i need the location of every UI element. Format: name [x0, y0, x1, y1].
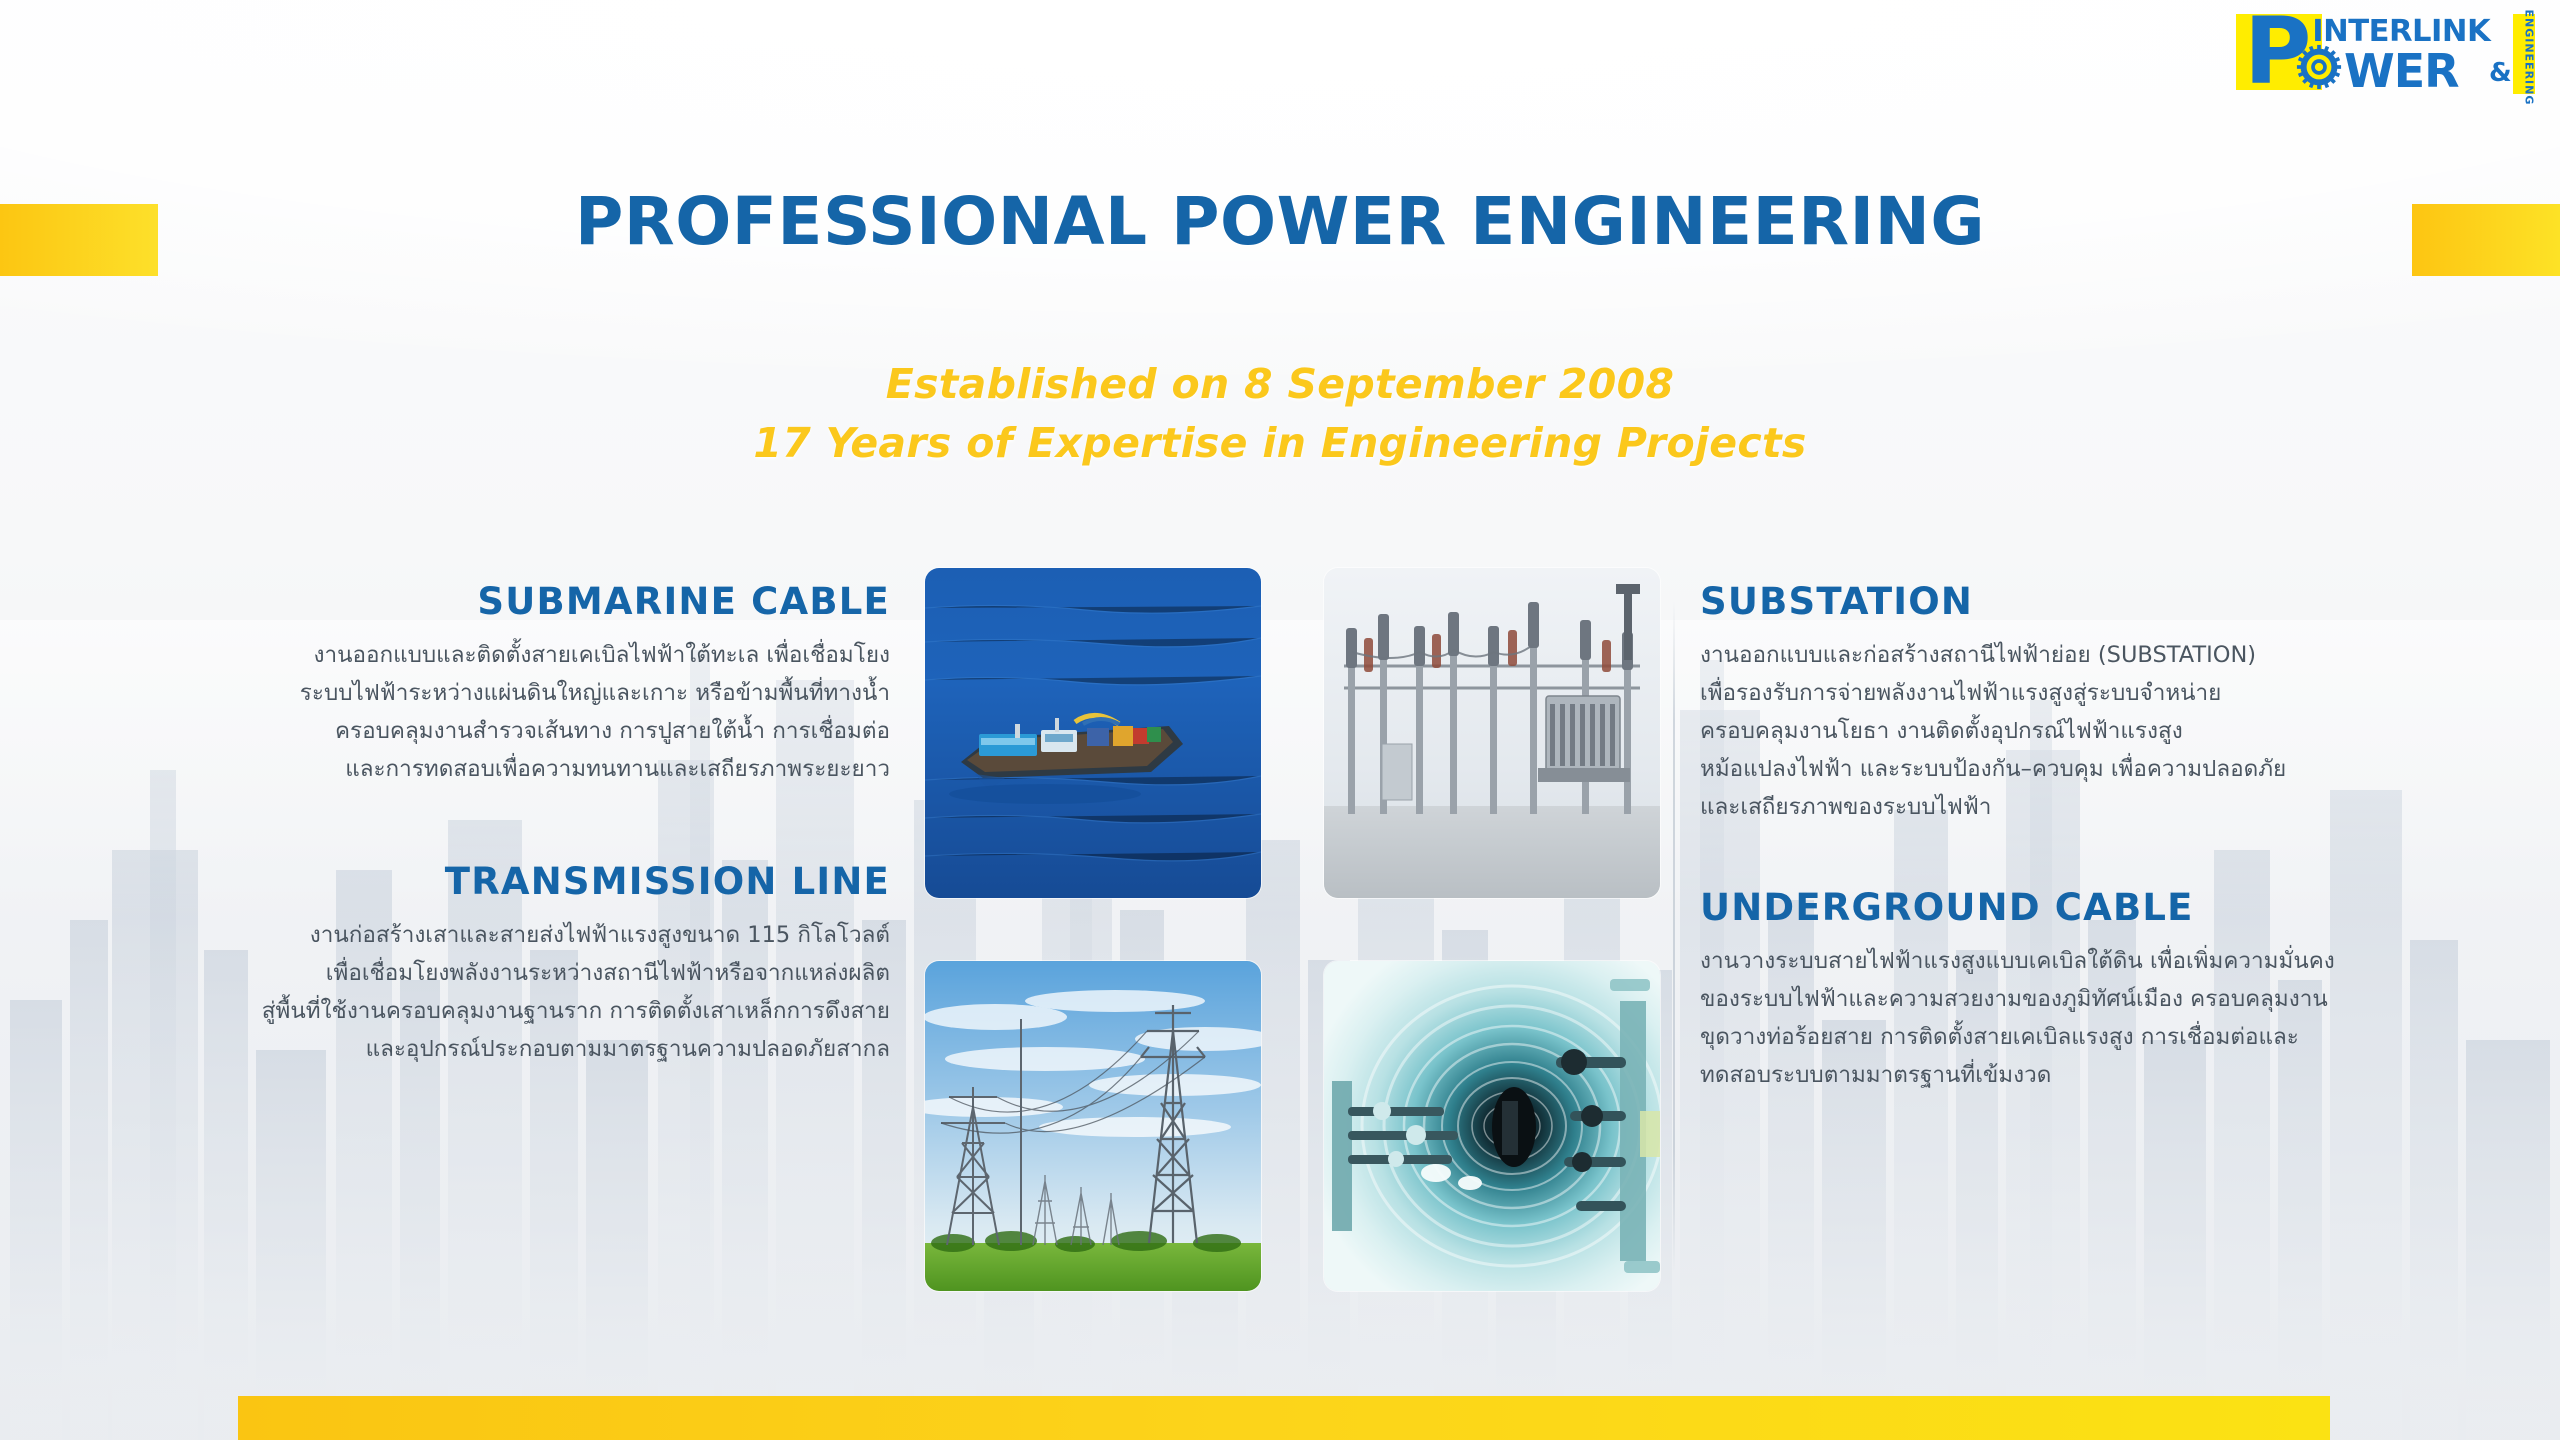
service-submarine-cable: SUBMARINE CABLE งานออกแบบและติดตั้งสายเค… [150, 580, 890, 788]
service-line: เพื่อเชื่อมโยงพลังงานระหว่างสถานีไฟฟ้าหร… [150, 954, 890, 992]
service-title-substation: SUBSTATION [1700, 580, 2480, 623]
service-line: งานออกแบบและติดตั้งสายเคเบิลไฟฟ้าใต้ทะเล… [150, 636, 890, 674]
service-line: ของระบบไฟฟ้าและความสวยงามของภูมิทัศน์เมื… [1700, 980, 2480, 1018]
service-line: ครอบคลุมงานสำรวจเส้นทาง การปูสายใต้น้ำ ก… [150, 712, 890, 750]
service-line: ระบบไฟฟ้าระหว่างแผ่นดินใหญ่และเกาะ หรือข… [150, 674, 890, 712]
service-line: สู่พื้นที่ใช้งานครอบคลุมงานฐานราก การติด… [150, 992, 890, 1030]
service-line: ขุดวางท่อร้อยสาย การติดตั้งสายเคเบิลแรงส… [1700, 1018, 2480, 1056]
service-line: และอุปกรณ์ประกอบตามมาตรฐานความปลอดภัยสาก… [150, 1030, 890, 1068]
services-column-left: SUBMARINE CABLE งานออกแบบและติดตั้งสายเค… [150, 580, 890, 1128]
service-line: หม้อแปลงไฟฟ้า และระบบป้องกัน–ควบคุม เพื่… [1700, 750, 2480, 788]
service-line: ทดสอบระบบตามมาตรฐานที่เข้มงวด [1700, 1056, 2480, 1094]
service-title-submarine-cable: SUBMARINE CABLE [150, 580, 890, 623]
subtitle-line-expertise: 17 Years of Expertise in Engineering Pro… [0, 414, 2560, 473]
service-underground-cable: UNDERGROUND CABLE งานวางระบบสายไฟฟ้าแรงส… [1700, 886, 2480, 1094]
service-body-transmission-line: งานก่อสร้างเสาและสายส่งไฟฟ้าแรงสูงขนาด 1… [150, 916, 890, 1068]
service-photo-grid [925, 568, 1660, 1293]
service-title-transmission-line: TRANSMISSION LINE [150, 860, 890, 903]
service-line: และการทดสอบเพื่อความทนทานและเสถียรภาพระย… [150, 750, 890, 788]
subtitle-line-established: Established on 8 September 2008 [0, 355, 2560, 414]
service-body-underground-cable: งานวางระบบสายไฟฟ้าแรงสูงแบบเคเบิลใต้ดิน … [1700, 942, 2480, 1094]
service-line: เพื่อรองรับการจ่ายพลังงานไฟฟ้าแรงสูงสู่ร… [1700, 674, 2480, 712]
logo-engineering-text: ENGINEERING [2523, 10, 2536, 88]
services-column-right: SUBSTATION งานออกแบบและก่อสร้างสถานีไฟฟ้… [1700, 580, 2480, 1154]
slide-canvas: P INTERLINK [0, 0, 2560, 1440]
substation-equipment-photo [1324, 568, 1660, 898]
page-title: PROFESSIONAL POWER ENGINEERING [0, 183, 2560, 260]
service-substation: SUBSTATION งานออกแบบและก่อสร้างสถานีไฟฟ้… [1700, 580, 2480, 826]
logo-engineering-block: ENGINEERING [2513, 14, 2535, 94]
service-line: งานวางระบบสายไฟฟ้าแรงสูงแบบเคเบิลใต้ดิน … [1700, 942, 2480, 980]
cable-laying-vessel-photo [925, 568, 1261, 898]
transmission-towers-photo [925, 961, 1261, 1291]
service-line: งานก่อสร้างเสาและสายส่งไฟฟ้าแรงสูงขนาด 1… [150, 916, 890, 954]
service-line: และเสถียรภาพของระบบไฟฟ้า [1700, 788, 2480, 826]
cable-tunnel-photo [1324, 961, 1660, 1291]
gear-icon [2296, 44, 2342, 90]
accent-bar-bottom [238, 1396, 2330, 1440]
service-title-underground-cable: UNDERGROUND CABLE [1700, 886, 2480, 929]
company-logo[interactable]: P INTERLINK [2236, 8, 2536, 96]
subtitle-block: Established on 8 September 2008 17 Years… [0, 355, 2560, 473]
service-body-submarine-cable: งานออกแบบและติดตั้งสายเคเบิลไฟฟ้าใต้ทะเล… [150, 636, 890, 788]
service-line: งานออกแบบและก่อสร้างสถานีไฟฟ้าย่อย (SUBS… [1700, 636, 2480, 674]
service-line: ครอบคลุมงานโยธา งานติดตั้งอุปกรณ์ไฟฟ้าแร… [1700, 712, 2480, 750]
logo-power-text: WER [2344, 44, 2459, 98]
logo-ampersand: & [2489, 58, 2512, 88]
service-body-substation: งานออกแบบและก่อสร้างสถานีไฟฟ้าย่อย (SUBS… [1700, 636, 2480, 826]
service-transmission-line: TRANSMISSION LINE งานก่อสร้างเสาและสายส่… [150, 860, 890, 1068]
